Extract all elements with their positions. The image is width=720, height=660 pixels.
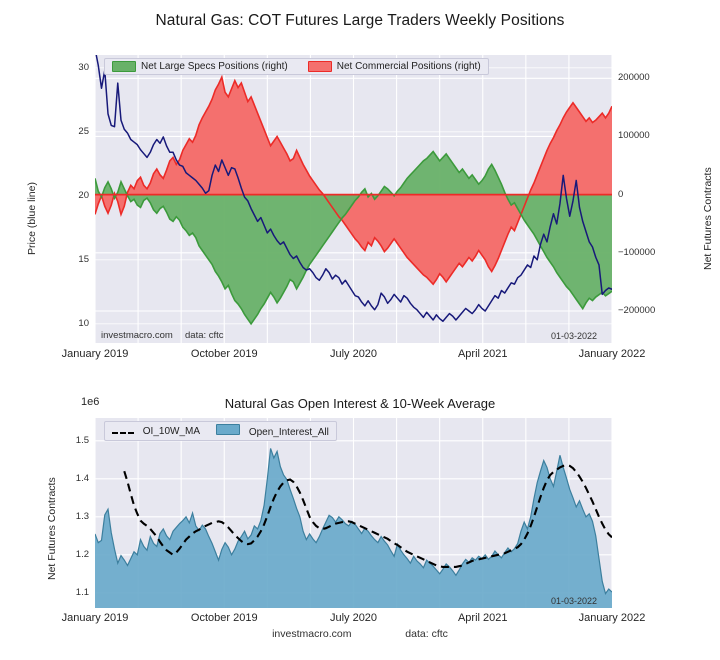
top-right-ytick: −200000 — [618, 305, 655, 316]
top-ylabel-left: Price (blue line) — [26, 182, 38, 255]
bottom-xtick: April 2021 — [413, 612, 553, 624]
top-right-ytick: −100000 — [618, 247, 655, 258]
bottom-watermark-date: 01-03-2022 — [551, 596, 597, 606]
legend-label-net-commercial: Net Commercial Positions (right) — [337, 61, 481, 72]
figure-footer: investmacro.com data: cftc — [0, 628, 720, 640]
legend-item-net-commercial: Net Commercial Positions (right) — [308, 61, 481, 72]
cot-positions-svg — [95, 55, 612, 343]
top-right-ytick: 0 — [618, 189, 623, 200]
bottom-xtick: January 2022 — [542, 612, 682, 624]
legend-item-open-interest-all: Open_Interest_All — [216, 424, 329, 438]
open-interest-svg — [95, 418, 612, 608]
bottom-xtick: January 2019 — [25, 612, 165, 624]
blue-swatch-icon — [216, 424, 240, 435]
top-watermark-site: investmacro.com — [101, 330, 173, 341]
bottom-ytick: 1.1 — [51, 587, 89, 598]
red-swatch-icon — [308, 61, 332, 72]
bottom-legend: OI_10W_MA Open_Interest_All — [104, 421, 337, 441]
bottom-xtick: July 2020 — [284, 612, 424, 624]
top-left-ytick: 30 — [49, 62, 89, 73]
bottom-ytick: 1.2 — [51, 549, 89, 560]
top-xtick: January 2022 — [542, 348, 682, 360]
open-interest-title: Natural Gas Open Interest & 10-Week Aver… — [0, 396, 720, 411]
legend-item-net-large-specs: Net Large Specs Positions (right) — [112, 61, 288, 72]
bottom-ylabel: Net Futures Contracts — [46, 477, 58, 580]
top-xtick: July 2020 — [284, 348, 424, 360]
cot-positions-plot-area — [95, 55, 612, 343]
bottom-ytick: 1.3 — [51, 511, 89, 522]
legend-label-net-large-specs: Net Large Specs Positions (right) — [141, 61, 288, 72]
top-ylabel-right: Net Futures Contracts — [702, 167, 714, 270]
dashed-line-swatch-icon — [112, 432, 134, 434]
bottom-ytick: 1.5 — [51, 435, 89, 446]
open-interest-offset-label: 1e6 — [81, 396, 99, 408]
top-xtick: January 2019 — [25, 348, 165, 360]
legend-label-open-interest-all: Open_Interest_All — [249, 427, 329, 438]
footer-site: investmacro.com — [272, 628, 351, 640]
legend-item-oi-10w-ma: OI_10W_MA — [112, 426, 200, 437]
legend-label-oi-10w-ma: OI_10W_MA — [143, 426, 200, 437]
top-right-ytick: 200000 — [618, 72, 650, 83]
figure: Natural Gas: COT Futures Large Traders W… — [0, 0, 720, 660]
top-legend: Net Large Specs Positions (right) Net Co… — [104, 58, 489, 75]
top-watermark-source: data: cftc — [185, 330, 224, 341]
top-xtick: April 2021 — [413, 348, 553, 360]
top-left-ytick: 20 — [49, 190, 89, 201]
top-watermark-date: 01-03-2022 — [551, 331, 597, 341]
top-left-ytick: 15 — [49, 254, 89, 265]
top-left-ytick: 25 — [49, 126, 89, 137]
figure-suptitle: Natural Gas: COT Futures Large Traders W… — [0, 12, 720, 30]
green-swatch-icon — [112, 61, 136, 72]
bottom-xtick: October 2019 — [154, 612, 294, 624]
top-xtick: October 2019 — [154, 348, 294, 360]
open-interest-plot-area — [95, 418, 612, 608]
top-left-ytick: 10 — [49, 318, 89, 329]
footer-source: data: cftc — [405, 628, 448, 640]
top-right-ytick: 100000 — [618, 130, 650, 141]
bottom-ytick: 1.4 — [51, 473, 89, 484]
